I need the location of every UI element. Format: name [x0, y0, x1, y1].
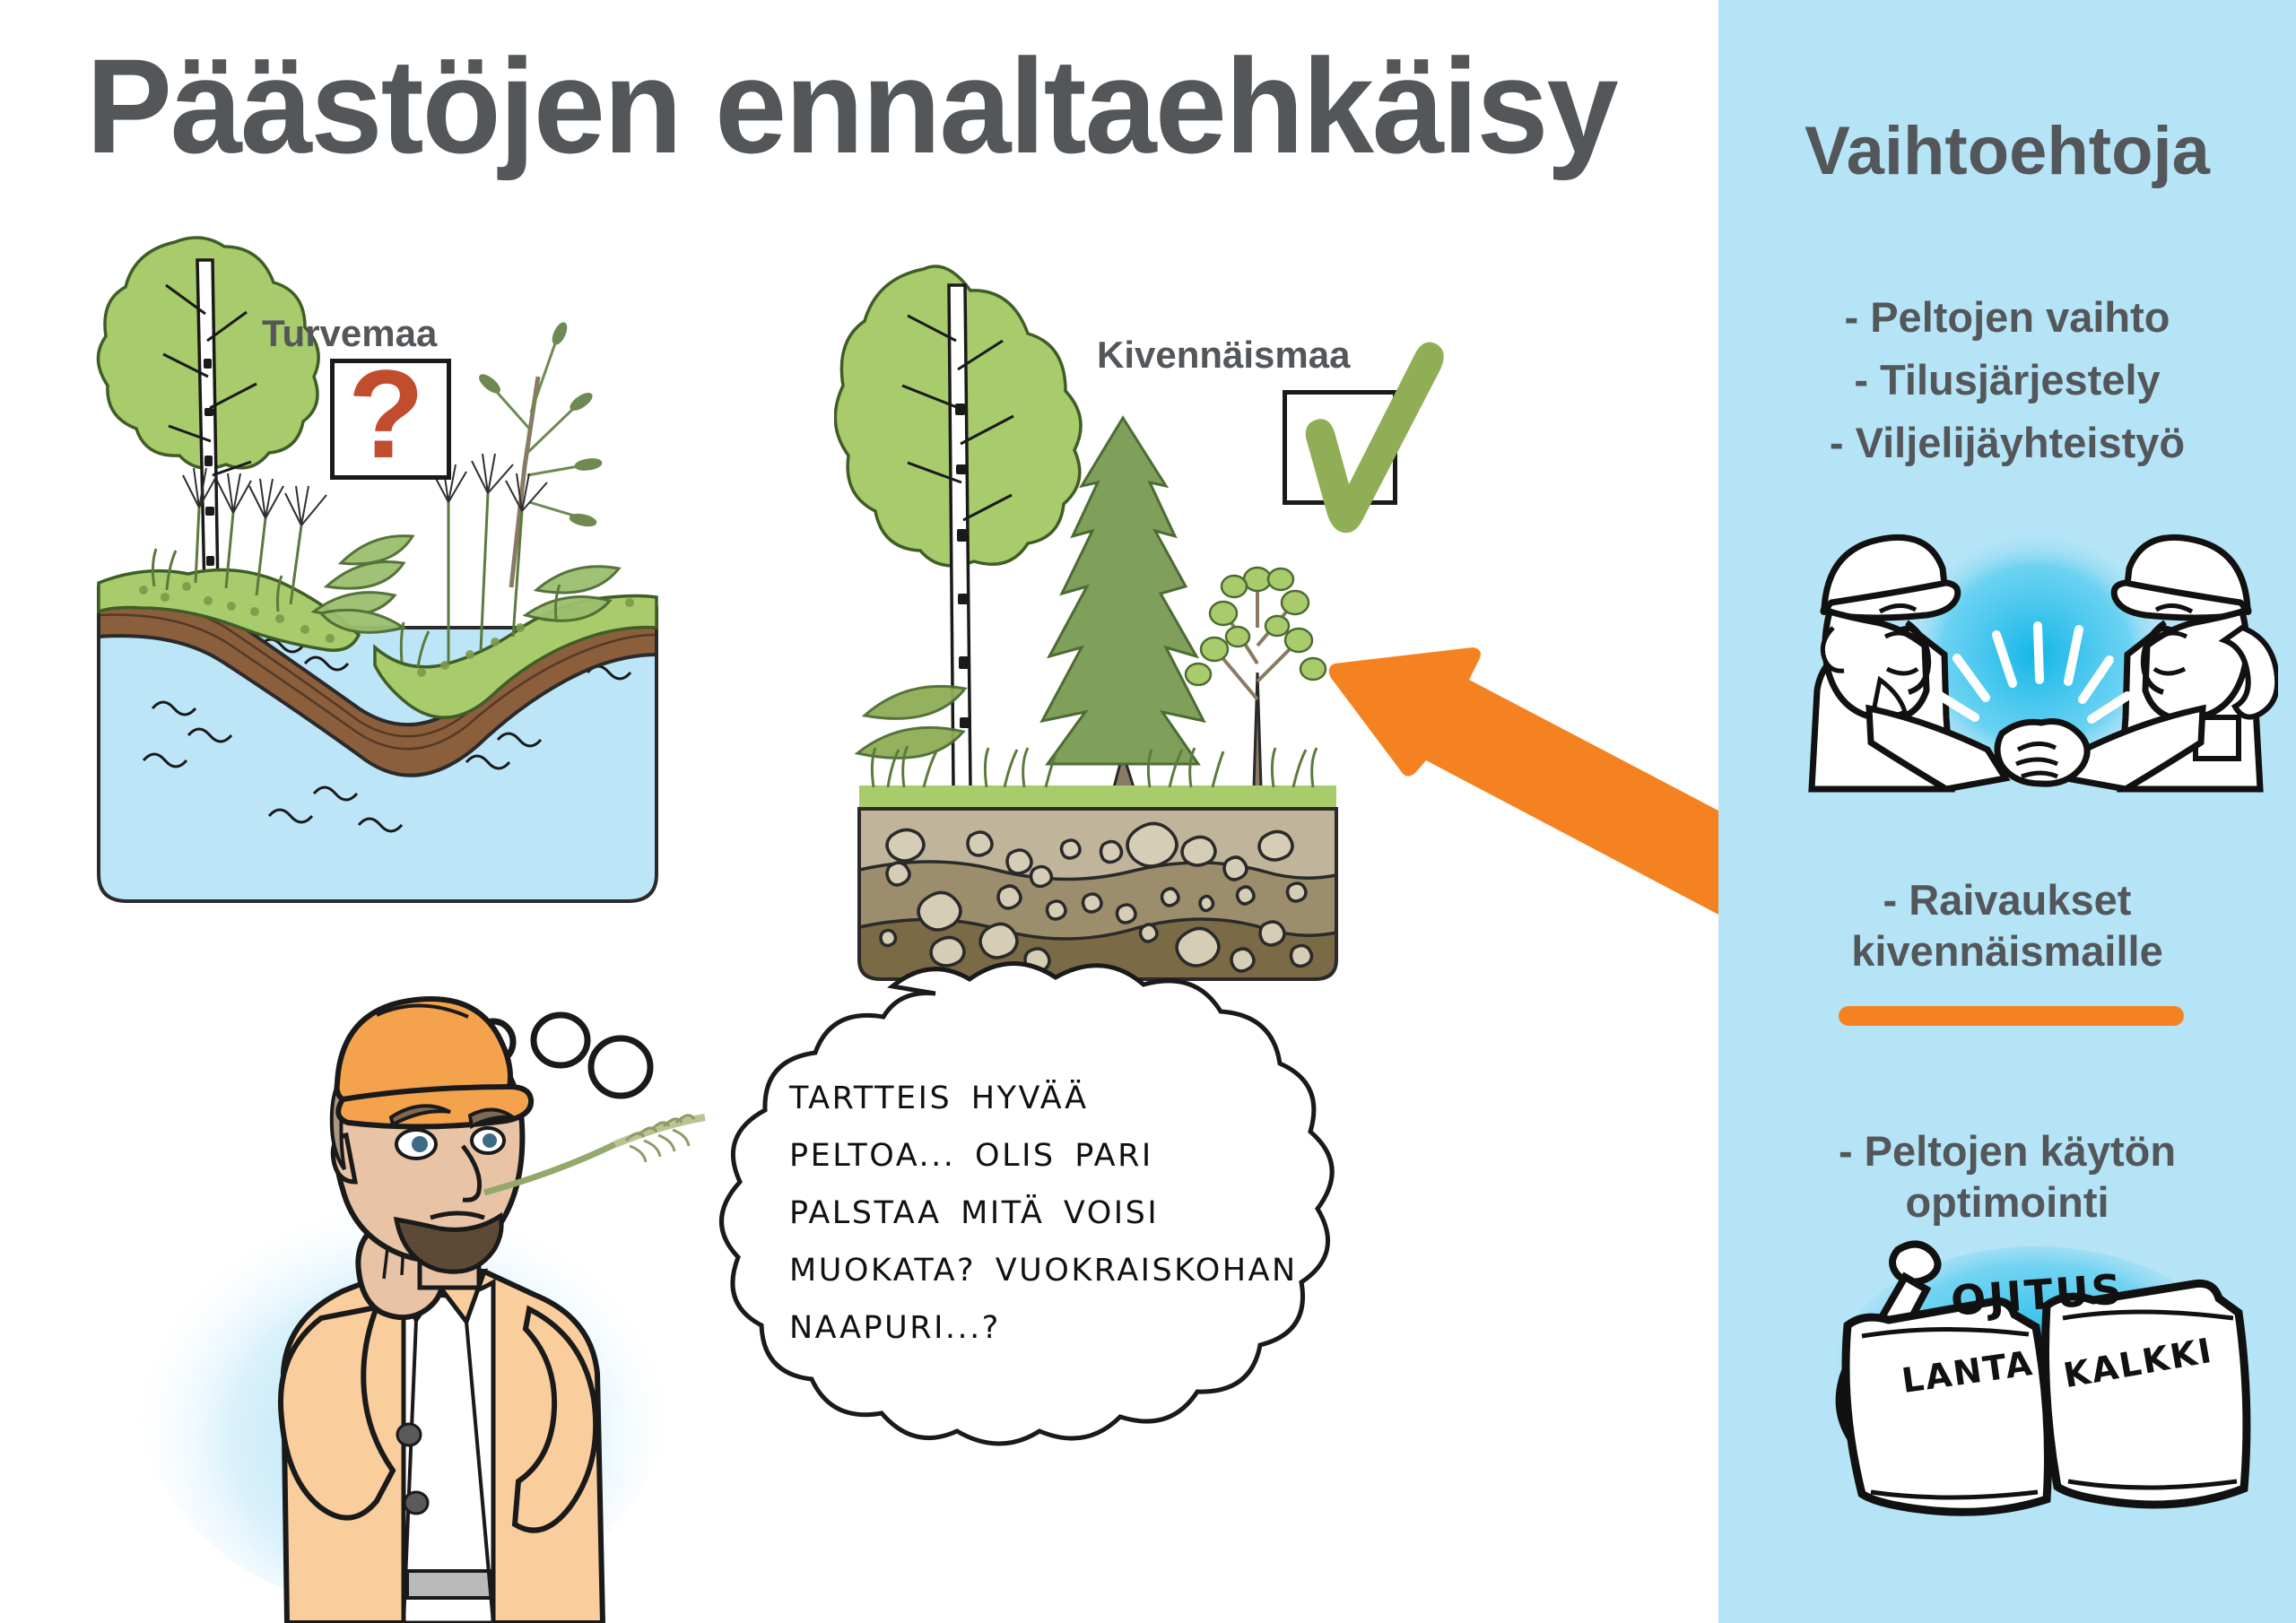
sidebar-bullet-raivaukset: - Raivaukset kivennäismaille	[1735, 874, 2280, 977]
sidebar-title: Vaihtoehtoja	[1718, 112, 2296, 190]
clasped-hands	[1997, 722, 2087, 785]
sidebar-bullet-peltojen-vaihto: - Peltojen vaihto	[1735, 291, 2280, 343]
page-title: Päästöjen ennaltaehkäisy	[86, 36, 1617, 178]
raivaukset-underline	[1839, 1006, 2184, 1026]
sidebar-bullet-viljelijayhteistyo: - Viljelijäyhteistyö	[1735, 417, 2280, 468]
bubble-line: naapuri...?	[789, 1299, 1345, 1357]
pine-tree-peat	[478, 322, 602, 587]
sidebar-bullet-optimointi: - Peltojen käytön optimointi	[1735, 1125, 2280, 1228]
thinking-farmer-illustration	[108, 933, 735, 1623]
optimointi-line-2: optimointi	[1905, 1178, 2109, 1226]
bubble-line: palstaa mitä voisi	[789, 1185, 1345, 1242]
check-mark-icon	[1272, 332, 1460, 538]
raivaukset-line-1: - Raivaukset	[1883, 876, 2132, 924]
optimointi-line-1: - Peltojen käytön	[1839, 1127, 2176, 1175]
bubble-line: muokata? Vuokraiskohan	[789, 1242, 1345, 1299]
bubble-line: Tartteis hyvää	[789, 1070, 1345, 1127]
infographic-poster: Päästöjen ennaltaehkäisy	[0, 0, 2296, 1623]
birch-tree-peat	[98, 238, 318, 592]
question-mark-icon: ?	[330, 343, 442, 486]
sidebar-bullet-tilusjarjestely: - Tilusjärjestely	[1735, 354, 2280, 405]
bubble-line: peltoa... olis pari	[789, 1127, 1345, 1185]
thought-bubble-text: Tartteis hyvää peltoa... olis pari palst…	[789, 1070, 1345, 1357]
raivaukset-line-2: kivennäismaille	[1851, 927, 2162, 975]
handshake-illustration	[1794, 493, 2278, 816]
fern-bush	[857, 686, 965, 758]
